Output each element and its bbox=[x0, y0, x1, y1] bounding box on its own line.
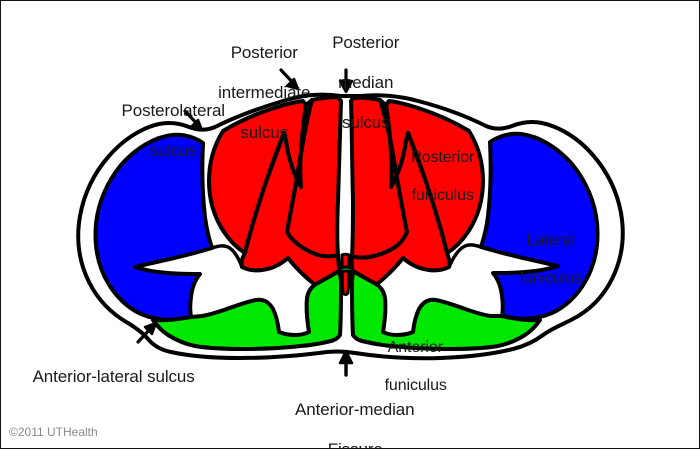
callout-posterior-intermediate-sulcus-line3: sulcus bbox=[240, 123, 288, 142]
region-label-lateral-funiculus-line1: Lateral bbox=[527, 232, 575, 249]
callout-posterior-median-sulcus-line1: Posterior bbox=[332, 33, 399, 52]
callout-posterior-median-sulcus-line3: sulcus bbox=[342, 113, 390, 132]
copyright-notice: ©2011 UTHealth bbox=[9, 425, 98, 439]
callout-anterior-lateral-sulcus: Anterior-lateral sulcus bbox=[15, 347, 195, 407]
callout-posterior-intermediate-sulcus: Posterior intermediate sulcus bbox=[194, 23, 316, 163]
anterior-median-green-bridge bbox=[337, 267, 355, 273]
callout-posterior-intermediate-sulcus-line1: Posterior bbox=[231, 43, 298, 62]
region-label-posterior-funiculus-line2: funiculus bbox=[412, 187, 474, 204]
callout-anterior-median-fissure-line2: Fissure bbox=[328, 440, 383, 449]
region-label-posterior-funiculus-line1: Posterior bbox=[411, 149, 474, 166]
anterior-median-fissure-arrow bbox=[340, 351, 352, 375]
callout-anterior-lateral-sulcus-line1: Anterior-lateral sulcus bbox=[33, 367, 195, 386]
region-label-anterior-funiculus-line1: Anterior bbox=[388, 339, 443, 356]
region-label-anterior-funiculus-line2: funiculus bbox=[385, 377, 447, 394]
region-label-lateral-funiculus-line2: funiculus bbox=[520, 270, 582, 287]
region-label-lateral-funiculus: Lateral funiculus bbox=[492, 212, 592, 307]
posterior-median-red-strip bbox=[342, 254, 349, 294]
callout-posterior-median-sulcus-line2: median bbox=[338, 73, 393, 92]
callout-posterior-intermediate-sulcus-line2: intermediate bbox=[218, 83, 310, 102]
callout-posterolateral-sulcus-line2: sulcus bbox=[149, 141, 197, 160]
spinal-cord-figure: Posterolateral sulcus Posterior intermed… bbox=[0, 0, 700, 449]
region-label-anterior-funiculus: Anterior funiculus bbox=[357, 319, 457, 414]
region-label-posterior-funiculus: Posterior funiculus bbox=[384, 129, 484, 224]
